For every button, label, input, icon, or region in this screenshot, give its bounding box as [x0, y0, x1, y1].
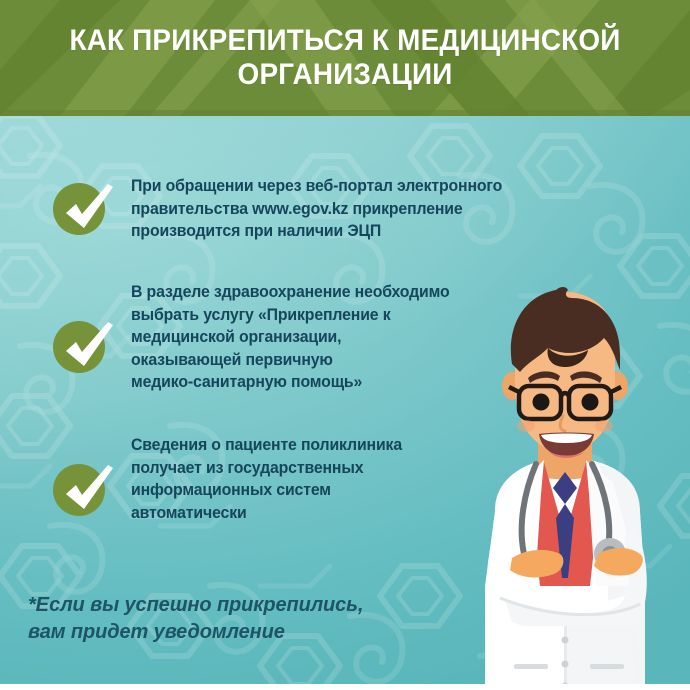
- check-circle-icon-2: [53, 321, 105, 373]
- coat-button-2: [562, 661, 569, 668]
- check-circle-icon-1: [53, 183, 105, 235]
- eye-left: [533, 394, 550, 411]
- check-mark-icon-1: [51, 173, 123, 245]
- cheek-left: [517, 420, 535, 432]
- check-circle-icon-3: [53, 464, 105, 516]
- coat-pocket-right: [590, 664, 624, 669]
- item-text-1: При обращении через веб-портал электронн…: [131, 175, 582, 243]
- infographic-poster: КАК ПРИКРЕПИТЬСЯ К МЕДИЦИНСКОЙ ОРГАНИЗАЦ…: [0, 0, 690, 690]
- coat-button-3: [562, 683, 569, 690]
- coat-pocket-left: [514, 664, 548, 669]
- doctor-illustration: [440, 286, 690, 690]
- coat-button-1: [562, 637, 569, 644]
- page-title: КАК ПРИКРЕПИТЬСЯ К МЕДИЦИНСКОЙ ОРГАНИЗАЦ…: [24, 24, 666, 92]
- check-mark-icon-3: [51, 454, 123, 526]
- header-banner: КАК ПРИКРЕПИТЬСЯ К МЕДИЦИНСКОЙ ОРГАНИЗАЦ…: [0, 0, 690, 116]
- coat-placket: [564, 626, 567, 690]
- footnote-text: *Если вы успешно прикрепились, вам приде…: [28, 592, 458, 646]
- eye-right: [582, 394, 599, 411]
- cheek-right: [595, 420, 613, 432]
- check-mark-icon-2: [51, 311, 123, 383]
